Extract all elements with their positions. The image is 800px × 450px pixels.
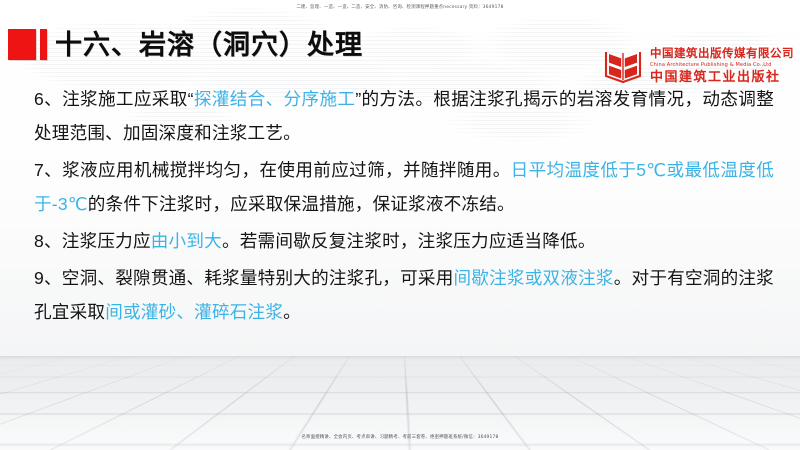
plain-text-run: 6、注浆施工应采取“ [34,89,194,109]
highlighted-text-run: 间歇注浆或双液注浆 [454,268,614,288]
publisher-name-english: China Architecture Publishing & Media Co… [650,62,794,69]
slide-body: 6、注浆施工应采取“探灌结合、分序施工”的方法。根据注浆孔揭示的岩溶发育情况，动… [34,82,774,332]
highlighted-text-run: 由小到大 [151,231,222,251]
plain-text-run: 的条件下注浆时，应采取保温措施，保证浆液不冻结。 [88,194,515,214]
presentation-slide: 二建、监理、一造、一造、二造、安全、消防、咨询、检测课程押题重点necessar… [0,0,800,450]
publisher-logo: 中国建筑出版传媒有限公司 China Architecture Publishi… [602,46,794,86]
body-paragraph: 8、注浆压力应由小到大。若需间歇反复注浆时，注浆压力应适当降低。 [34,224,774,258]
slide-header: 十六、岩溶（洞穴）处理 中国建筑出版传媒有限公司 China Architect… [0,22,800,74]
plain-text-run: 。 [283,302,301,322]
top-banner-microtext: 二建、监理、一造、一造、二造、安全、消防、咨询、检测课程押题重点necessar… [0,4,800,11]
page-title: 十六、岩溶（洞穴）处理 [55,26,363,64]
publisher-name-chinese: 中国建筑出版传媒有限公司 [650,48,794,61]
body-paragraph: 9、空洞、裂隙贯通、耗浆量特别大的注浆孔，可采用间歇注浆或双液注浆。对于有空洞的… [34,261,774,329]
highlighted-text-run: 探灌结合、分序施工 [194,89,356,109]
publisher-name-group: 中国建筑出版传媒有限公司 China Architecture Publishi… [650,48,794,85]
open-book-logo-icon [602,46,644,86]
title-marker-bar [40,29,47,60]
plain-text-run: 9、空洞、裂隙贯通、耗浆量特别大的注浆孔，可采用 [34,268,454,288]
body-paragraph: 6、注浆施工应采取“探灌结合、分序施工”的方法。根据注浆孔揭示的岩溶发育情况，动… [34,82,774,150]
title-red-marker-icon [8,29,47,60]
title-marker-block [8,29,36,60]
plain-text-run: 7、浆液应用机械搅拌均匀，在使用前应过筛，并随拌随用。 [34,160,511,180]
bottom-banner-microtext: 名师面授精讲、全会内页、考点串讲、习题精考、考前三套卷、绝密押题班系统/微信：3… [0,434,800,441]
body-paragraph: 7、浆液应用机械搅拌均匀，在使用前应过筛，并随拌随用。日平均温度低于5℃或最低温… [34,153,774,221]
highlighted-text-run: 间或灌砂、灌碎石注浆 [105,302,283,322]
plain-text-run: 8、注浆压力应 [34,231,151,251]
plain-text-run: 。若需间歇反复注浆时，注浆压力应适当降低。 [222,231,596,251]
